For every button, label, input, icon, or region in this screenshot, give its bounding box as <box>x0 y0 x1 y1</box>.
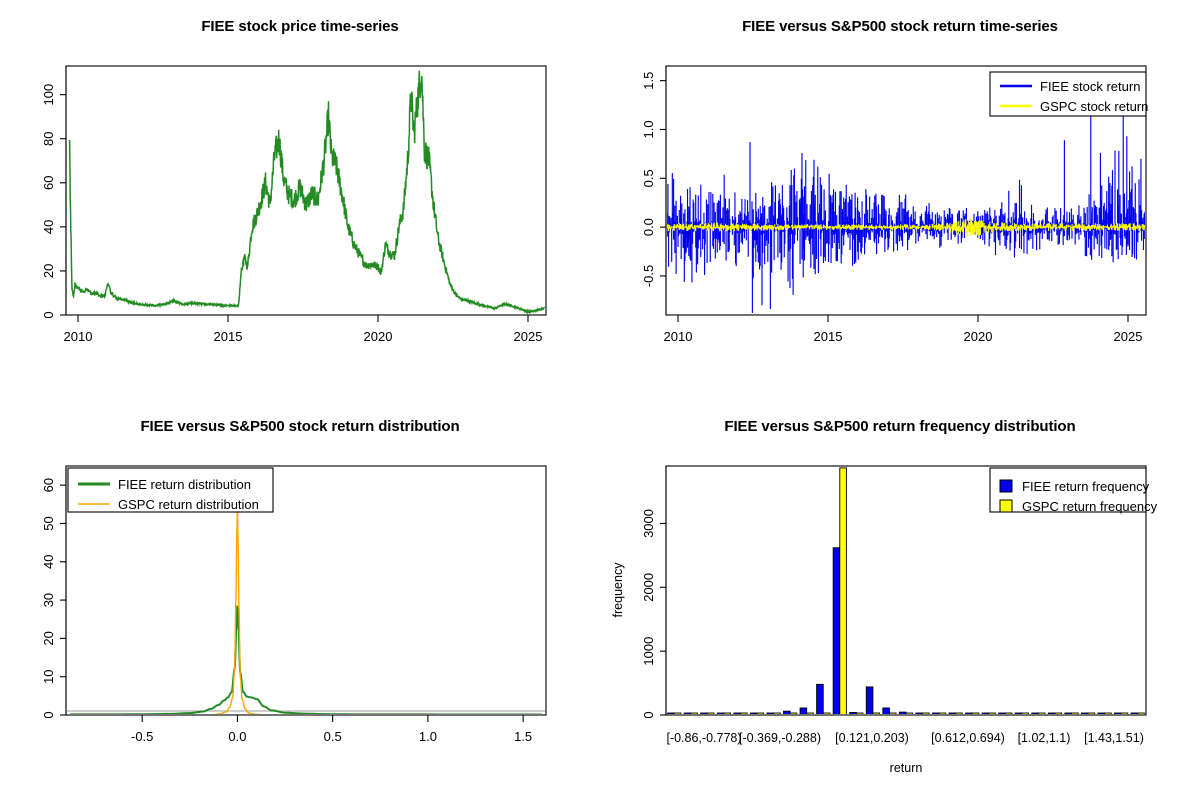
figure-panel-grid: FIEE stock price time-series 02040608010… <box>0 0 1200 800</box>
histogram-bar-gspc <box>840 468 847 715</box>
legend-distribution: FIEE return distributionGSPC return dist… <box>68 468 273 512</box>
x-tick-return: 2015 <box>814 329 843 344</box>
histogram-bar-fiee <box>784 711 791 715</box>
x-tick-price: 2015 <box>214 329 243 344</box>
x-tick-price: 2020 <box>364 329 393 344</box>
axis-label-frequency: frequency <box>611 562 625 618</box>
x-tick-return: 2025 <box>1114 329 1143 344</box>
y-tick-price: 0 <box>41 311 56 318</box>
return-distribution-chart: 0102030405060 -0.50.00.51.01.5 FIEE retu… <box>0 400 600 800</box>
histogram-bin-labels: [-0.86,-0.778)[-0.369,-0.288)[0.121,0.20… <box>666 731 1143 745</box>
price-line-fiee <box>70 71 545 313</box>
return-spikes-fiee <box>666 108 1146 313</box>
y-tick-return: 1.5 <box>641 72 656 90</box>
bin-label: [0.121,0.203) <box>835 731 909 745</box>
legend-return-series: FIEE stock returnGSPC stock return <box>990 72 1148 116</box>
y-tick-price: 80 <box>41 131 56 145</box>
y-tick-return: 1.0 <box>641 120 656 138</box>
price-time-series-chart: 020406080100 2010201520202025 <box>0 0 600 400</box>
y-axis-density: 0102030405060 <box>41 466 66 719</box>
legend-label: FIEE stock return <box>1040 79 1140 94</box>
y-axis-return: -0.50.00.51.01.5 <box>641 66 666 315</box>
density-line-fiee <box>70 606 542 715</box>
plot-box-price <box>66 66 546 315</box>
legend-swatch <box>1000 480 1012 492</box>
y-tick-density: 40 <box>41 555 56 569</box>
bin-label: [1.43,1.51) <box>1084 731 1144 745</box>
x-tick-return: 2010 <box>664 329 693 344</box>
legend-label: FIEE return frequency <box>1022 479 1150 494</box>
y-axis-frequency: 0100020003000 <box>641 466 666 719</box>
x-tick-density: 0.0 <box>228 729 246 744</box>
x-tick-price: 2010 <box>64 329 93 344</box>
return-frequency-chart: 0100020003000 frequency [-0.86,-0.778)[-… <box>600 400 1200 800</box>
return-series-fiee <box>666 108 1146 313</box>
y-tick-price: 40 <box>41 220 56 234</box>
y-tick-return: -0.5 <box>641 265 656 287</box>
x-tick-density: -0.5 <box>131 729 153 744</box>
y-tick-density: 20 <box>41 631 56 645</box>
legend-label: GSPC return distribution <box>118 497 259 512</box>
legend-label: GSPC return frequency <box>1022 499 1158 514</box>
panel-return-frequency: FIEE versus S&P500 return frequency dist… <box>600 400 1200 800</box>
y-tick-frequency: 3000 <box>641 509 656 538</box>
legend-frequency: FIEE return frequencyGSPC return frequen… <box>990 468 1158 514</box>
y-axis-price: 020406080100 <box>41 66 66 319</box>
x-axis-density: -0.50.00.51.01.5 <box>131 715 532 744</box>
y-tick-frequency: 0 <box>641 711 656 718</box>
histogram-bar-fiee <box>833 548 840 715</box>
bin-label: [0.612,0.694) <box>931 731 1005 745</box>
histogram-bar-fiee <box>817 684 824 715</box>
x-tick-density: 1.0 <box>419 729 437 744</box>
x-tick-density: 1.5 <box>514 729 532 744</box>
histogram-bar-fiee <box>866 687 873 715</box>
x-axis-return: 2010201520202025 <box>664 315 1143 344</box>
panel-price-time-series: FIEE stock price time-series 02040608010… <box>0 0 600 400</box>
y-tick-density: 50 <box>41 516 56 530</box>
x-axis-price: 2010201520202025 <box>64 315 543 344</box>
y-tick-return: 0.5 <box>641 169 656 187</box>
histogram-bar-fiee <box>883 708 890 715</box>
bin-label: [-0.86,-0.778) <box>666 731 741 745</box>
panel-return-distribution: FIEE versus S&P500 stock return distribu… <box>0 400 600 800</box>
legend-label: FIEE return distribution <box>118 477 251 492</box>
y-tick-frequency: 2000 <box>641 573 656 602</box>
y-tick-density: 30 <box>41 593 56 607</box>
x-tick-price: 2025 <box>514 329 543 344</box>
bin-label: [-0.369,-0.288) <box>739 731 821 745</box>
y-tick-price: 20 <box>41 264 56 278</box>
y-tick-density: 10 <box>41 669 56 683</box>
y-tick-density: 0 <box>41 711 56 718</box>
y-tick-price: 60 <box>41 176 56 190</box>
return-time-series-chart: -0.50.00.51.01.5 2010201520202025 FIEE s… <box>600 0 1200 400</box>
histogram-bar-fiee <box>800 708 807 715</box>
x-tick-return: 2020 <box>964 329 993 344</box>
legend-label: GSPC stock return <box>1040 99 1148 114</box>
panel-return-time-series: FIEE versus S&P500 stock return time-ser… <box>600 0 1200 400</box>
y-tick-frequency: 1000 <box>641 637 656 666</box>
y-tick-price: 100 <box>41 84 56 106</box>
legend-swatch <box>1000 500 1012 512</box>
bin-label: [1.02,1.1) <box>1018 731 1071 745</box>
y-tick-density: 60 <box>41 478 56 492</box>
y-tick-return: 0.0 <box>641 218 656 236</box>
axis-label-return: return <box>890 761 923 775</box>
x-tick-density: 0.5 <box>324 729 342 744</box>
